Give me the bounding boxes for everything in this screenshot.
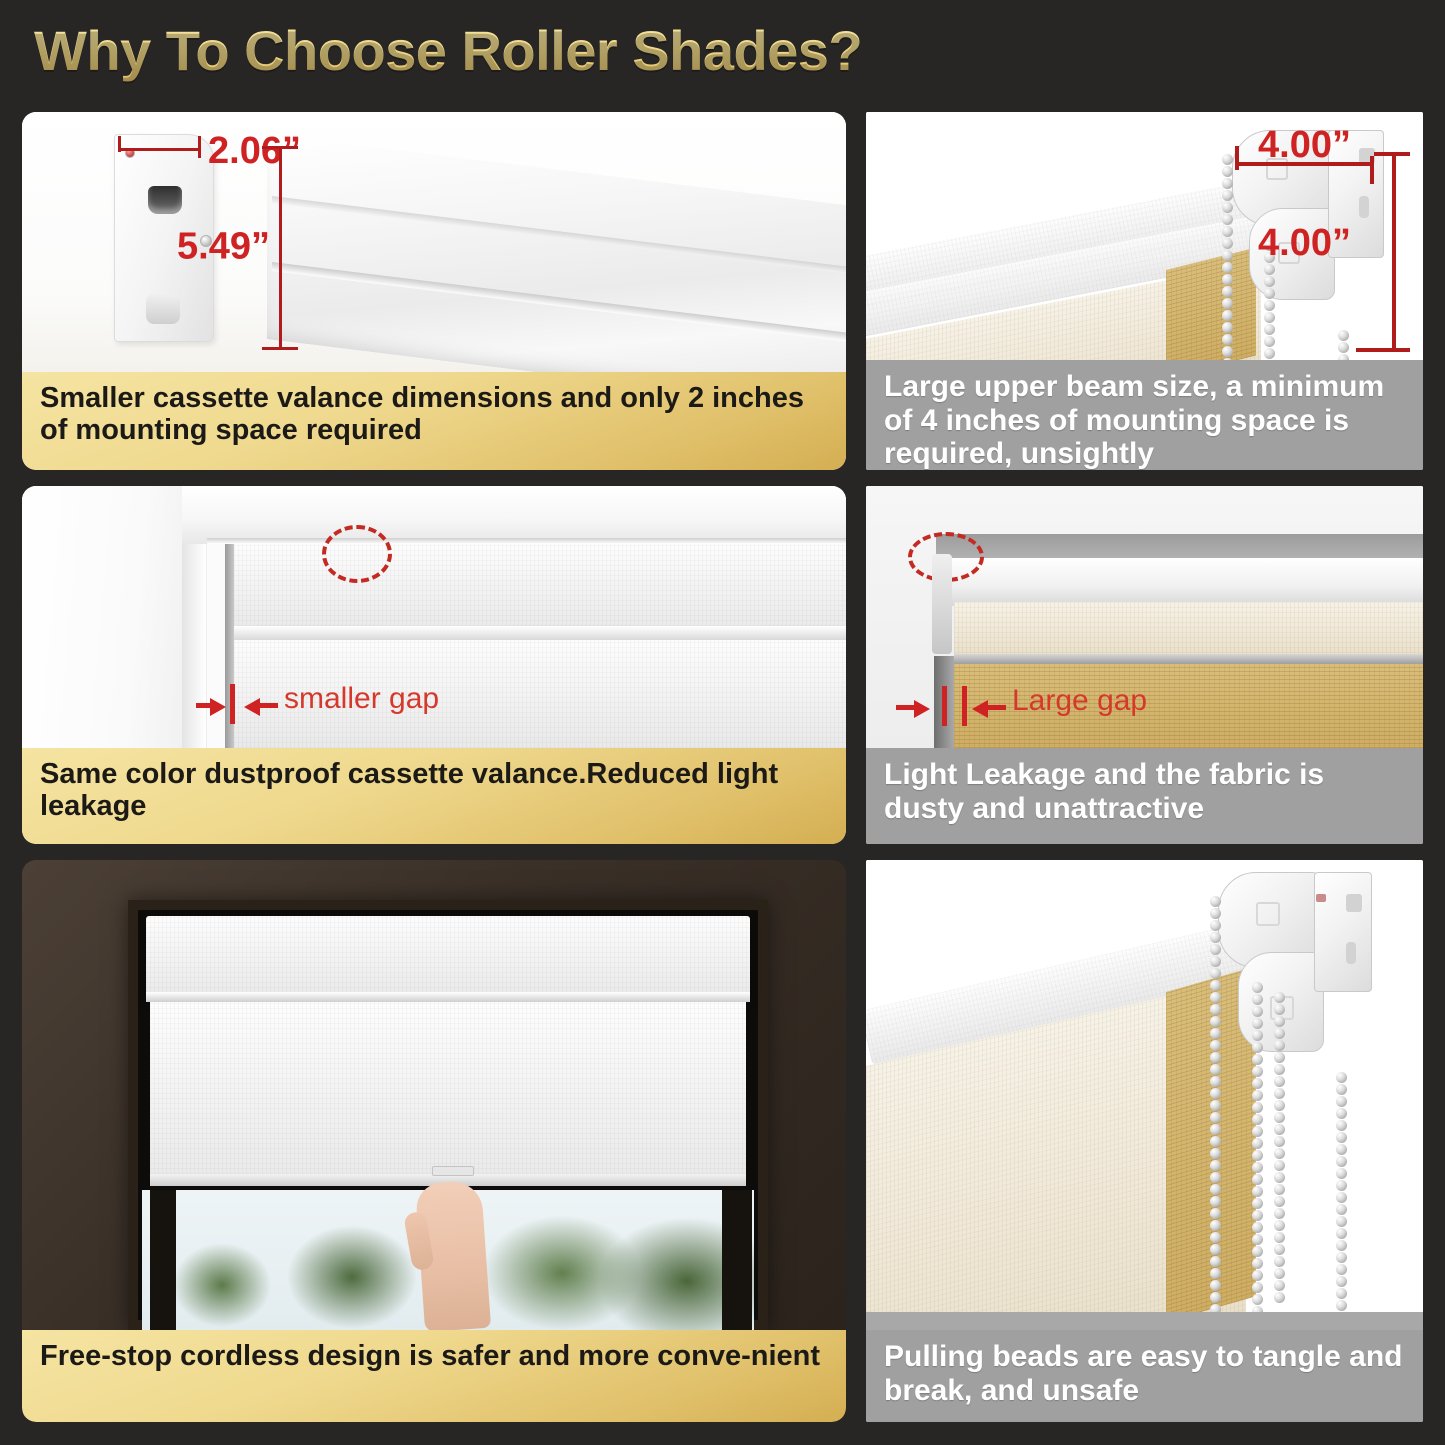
bracket-height-dim-vertical	[1392, 152, 1396, 352]
panel-mid-left: smaller gap Same color dustproof cassett…	[22, 486, 846, 844]
bracket-height-tick-bottom	[1356, 348, 1410, 352]
panel-top-left: 2.06” 5.49” Smaller cassette valance dim…	[22, 112, 846, 470]
panel-bottom-left: Free-stop cordless design is safer and m…	[22, 860, 846, 1422]
bracket-width-tick-right	[1370, 156, 1374, 184]
gap-marker-bar	[230, 684, 235, 724]
caption-bottom-right: Pulling beads are easy to tangle and bre…	[866, 1330, 1423, 1422]
panel-mid-right-photo: Large gap	[866, 486, 1423, 748]
cassette-valance-body	[267, 134, 846, 372]
large-gap-marker-bar-1	[942, 686, 947, 726]
bracket-icon-br-upper	[1256, 902, 1280, 926]
height-dimension-label: 5.49”	[177, 226, 270, 269]
panel-top-left-photo: 2.06” 5.49”	[22, 112, 846, 372]
shade-valance-bottom-left	[146, 916, 750, 998]
panel-mid-left-photo: smaller gap	[22, 486, 846, 748]
height-dim-tick-top	[262, 146, 298, 149]
bead-chain-br-back	[1336, 1072, 1347, 1312]
shade-pull-tab	[432, 1166, 474, 1176]
gap-arrow-right-tail	[260, 703, 278, 708]
bead-chain-br-front	[1210, 896, 1221, 1328]
bracket-slot-br-1	[1346, 894, 1362, 912]
valance-bottom-lip	[234, 626, 846, 640]
window-casing-outer	[22, 486, 207, 748]
bracket-height-tick-top	[1374, 152, 1410, 156]
headrail-white	[936, 558, 1423, 606]
window-casing-top	[182, 486, 846, 544]
bracket-clip	[932, 554, 952, 654]
bracket-mounting-plate-br	[1314, 872, 1372, 992]
bracket-width-tick-left	[1235, 146, 1239, 170]
hanging-fabric-tan	[1166, 248, 1256, 374]
caption-bottom-left: Free-stop cordless design is safer and m…	[22, 1330, 846, 1422]
bracket-height-label: 4.00”	[1258, 222, 1351, 265]
panel-bottom-right-photo	[866, 860, 1423, 1330]
large-gap-arrow-left-tail	[896, 705, 916, 710]
highlight-circle-gap	[322, 525, 392, 583]
panel-mid-right: Large gap Light Leakage and the fabric i…	[866, 486, 1423, 844]
width-dimension-label: 2.06”	[208, 130, 301, 173]
large-gap-marker-bar-2	[962, 686, 967, 726]
height-dim-tick-bottom	[262, 347, 298, 350]
gap-arrow-left	[210, 698, 226, 716]
gap-arrow-right	[244, 698, 260, 716]
bracket-slot-br-2	[1346, 942, 1356, 964]
end-cap-slot	[148, 186, 182, 214]
large-gap-arrow-right-tail	[988, 705, 1006, 710]
width-dim-tick-right	[198, 136, 201, 158]
comparison-grid: 2.06” 5.49” Smaller cassette valance dim…	[0, 0, 1445, 1445]
caption-mid-right: Light Leakage and the fabric is dusty an…	[866, 748, 1423, 844]
width-dim-line	[118, 148, 201, 151]
bead-chain-br-middle-b	[1274, 992, 1285, 1304]
end-cap-bottom-roller	[146, 294, 180, 324]
width-dim-tick-left	[118, 136, 121, 152]
caption-top-left: Smaller cassette valance dimensions and …	[22, 372, 846, 470]
headrail-cream-band	[954, 602, 1423, 658]
bracket-width-label: 4.00”	[1258, 124, 1351, 167]
panel-top-right-photo: 4.00” 4.00”	[866, 112, 1423, 374]
gap-arrow-left-tail	[196, 703, 212, 708]
large-gap-arrow-right	[972, 700, 988, 718]
bracket-slot-2	[1359, 196, 1369, 218]
bracket-red-dot	[1316, 894, 1326, 902]
panel-bottom-right: Pulling beads are easy to tangle and bre…	[866, 860, 1423, 1422]
bead-chain-front	[1222, 154, 1233, 370]
floor-shadow	[866, 1312, 1423, 1330]
window-mullion-right	[722, 1190, 752, 1330]
panel-bottom-left-photo	[22, 860, 846, 1330]
caption-mid-left: Same color dustproof cassette valance.Re…	[22, 748, 846, 844]
large-gap-label: Large gap	[1012, 684, 1147, 718]
bead-chain-br-middle-a	[1252, 982, 1263, 1318]
smaller-gap-label: smaller gap	[284, 682, 439, 716]
height-dim-vertical	[279, 146, 282, 350]
window-mullion-left	[150, 1190, 176, 1330]
headrail-bottom-edge	[954, 654, 1423, 664]
valance-seam	[146, 992, 750, 1002]
panel-top-right: 4.00” 4.00” Large upper beam size, a min…	[866, 112, 1423, 470]
caption-top-right: Large upper beam size, a minimum of 4 in…	[866, 360, 1423, 470]
infographic-page: Why To Choose Roller Shades? Why To Choo…	[0, 0, 1445, 1445]
shade-fabric-bottom-left	[150, 1002, 746, 1184]
large-gap-arrow-left	[914, 700, 930, 718]
